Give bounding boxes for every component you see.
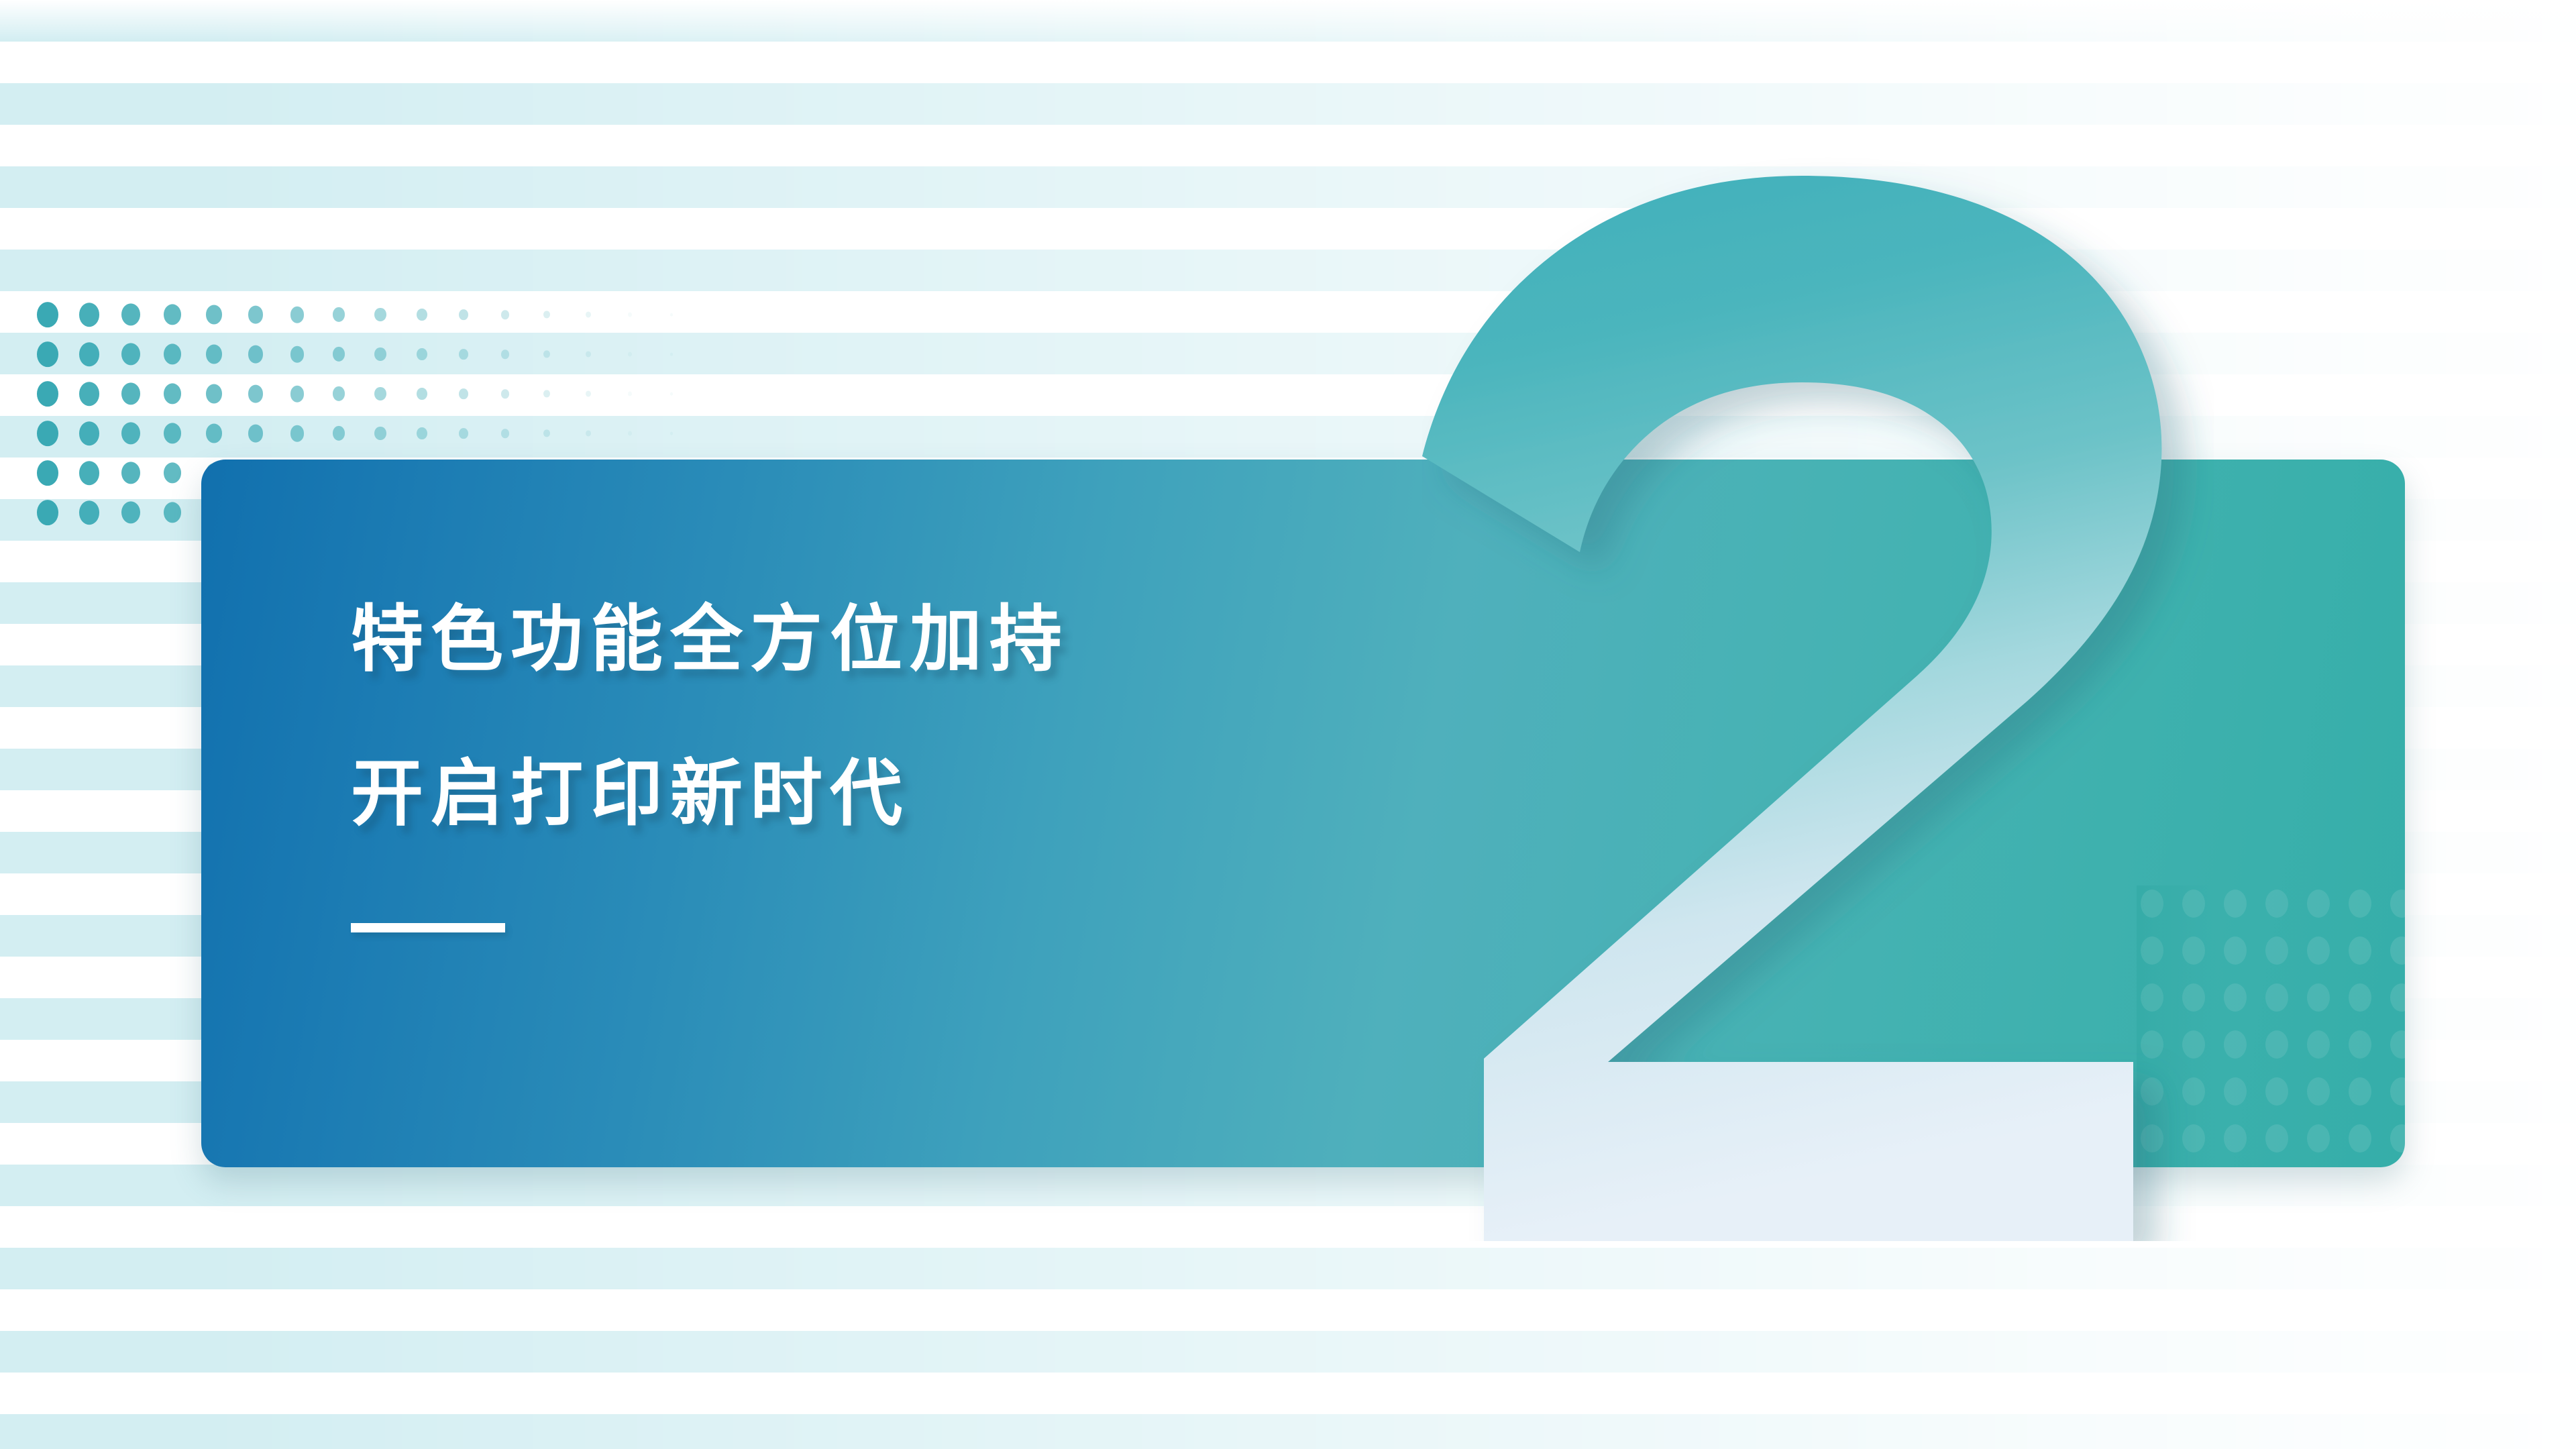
halftone-dot (543, 350, 550, 358)
card-halftone-dot (2265, 1077, 2288, 1106)
halftone-dot (79, 461, 99, 485)
halftone-dot (670, 432, 673, 435)
halftone-dot (121, 343, 140, 365)
halftone-dot (79, 303, 99, 327)
halftone-dot (79, 342, 99, 366)
halftone-dot (543, 390, 550, 397)
halftone-dot (586, 390, 591, 396)
card-halftone-dot (2182, 1030, 2205, 1059)
card-halftone-dot (2349, 1124, 2371, 1152)
halftone-dot (164, 462, 181, 483)
card-halftone-dot (2224, 890, 2247, 918)
halftone-dot (501, 310, 508, 319)
halftone-dot (164, 502, 181, 523)
halftone-dot (628, 431, 632, 436)
halftone-dot (333, 307, 345, 322)
halftone-dot (459, 309, 468, 320)
halftone-dot-row (37, 343, 714, 366)
card-halftone-dot (2182, 936, 2205, 965)
card-halftone-dot-grid (2137, 885, 2405, 1167)
halftone-dot (121, 422, 140, 444)
card-halftone-dot (2307, 1124, 2330, 1152)
title-line-1: 特色功能全方位加持 (351, 562, 1069, 716)
card-halftone-dot (2390, 890, 2405, 918)
halftone-dot (501, 429, 508, 438)
halftone-dot (79, 500, 99, 525)
halftone-dot (374, 347, 386, 361)
card-halftone-dot (2141, 1077, 2163, 1106)
halftone-dot (670, 313, 673, 317)
halftone-dot (670, 353, 673, 356)
card-halftone-dot (2390, 936, 2405, 965)
halftone-dot (164, 304, 181, 325)
halftone-dot (121, 462, 140, 484)
halftone-dot (37, 460, 58, 486)
halftone-dot (628, 352, 632, 357)
section-title-block: 特色功能全方位加持 开启打印新时代 (351, 562, 1069, 932)
halftone-dot (37, 421, 58, 446)
halftone-dot (206, 305, 223, 325)
halftone-dot (37, 341, 58, 367)
halftone-dot (290, 346, 305, 363)
halftone-dot (628, 392, 632, 396)
halftone-dot (501, 350, 508, 359)
card-halftone-dot (2307, 1030, 2330, 1059)
card-halftone-dot (2182, 1077, 2205, 1106)
halftone-dot (417, 427, 427, 439)
card-halftone-dot (2141, 1030, 2163, 1059)
halftone-dot (586, 311, 591, 317)
halftone-dot (164, 423, 181, 443)
halftone-dot (459, 428, 468, 439)
card-halftone-dot (2182, 983, 2205, 1012)
halftone-dot (121, 303, 140, 325)
halftone-dot (206, 384, 223, 404)
halftone-dot (543, 311, 550, 318)
halftone-dot (37, 500, 58, 525)
card-halftone-dot (2307, 983, 2330, 1012)
card-halftone-dot (2182, 1124, 2205, 1152)
halftone-dot (121, 501, 140, 523)
halftone-dot (37, 302, 58, 327)
halftone-dot (248, 345, 264, 364)
card-halftone-dot (2265, 936, 2288, 965)
halftone-dot (670, 392, 673, 396)
card-halftone-dot (2182, 890, 2205, 918)
card-halftone-dot (2390, 1030, 2405, 1059)
halftone-dot (333, 426, 345, 441)
halftone-dot (248, 425, 264, 443)
card-halftone-dot (2349, 890, 2371, 918)
halftone-dot (79, 382, 99, 406)
halftone-dot (628, 313, 632, 317)
card-halftone-dot (2141, 936, 2163, 965)
card-halftone-dot (2390, 1124, 2405, 1152)
halftone-dot (248, 306, 264, 324)
card-halftone-dot (2349, 936, 2371, 965)
halftone-dot (290, 307, 305, 323)
halftone-dot (459, 388, 468, 399)
card-halftone-dot (2307, 1077, 2330, 1106)
card-halftone-dot (2307, 936, 2330, 965)
card-halftone-dot (2224, 1077, 2247, 1106)
halftone-dot (459, 349, 468, 360)
card-halftone-dot (2141, 1124, 2163, 1152)
halftone-dot (290, 425, 305, 442)
card-halftone-dot (2265, 1124, 2288, 1152)
halftone-dot (586, 351, 591, 357)
card-halftone-dot (2265, 1030, 2288, 1059)
halftone-dot (374, 308, 386, 321)
card-halftone-dot (2224, 1124, 2247, 1152)
halftone-dot (333, 347, 345, 362)
halftone-dot (164, 383, 181, 404)
card-halftone-dot (2307, 890, 2330, 918)
halftone-dot-row (37, 422, 714, 445)
card-halftone-dot (2390, 983, 2405, 1012)
halftone-dot-row (37, 303, 714, 326)
halftone-dot (501, 389, 508, 398)
halftone-dot (206, 345, 223, 364)
halftone-dot (543, 429, 550, 437)
halftone-dot (164, 343, 181, 364)
card-halftone-dot (2224, 983, 2247, 1012)
stripes-top-fade (0, 0, 2576, 40)
halftone-dot (417, 309, 427, 321)
halftone-dot (586, 430, 591, 436)
halftone-dot (248, 385, 264, 403)
card-halftone-dot (2224, 936, 2247, 965)
halftone-dot (37, 381, 58, 407)
halftone-dot (374, 427, 386, 440)
card-halftone-dot (2265, 983, 2288, 1012)
card-halftone-dot (2349, 1077, 2371, 1106)
halftone-dot (79, 421, 99, 445)
halftone-dot (206, 424, 223, 443)
title-divider-bar (351, 923, 505, 932)
card-halftone-dot (2265, 890, 2288, 918)
halftone-dot (374, 387, 386, 400)
card-halftone-dot (2349, 1030, 2371, 1059)
halftone-dot (290, 386, 305, 402)
card-halftone-dot (2349, 983, 2371, 1012)
card-halftone-dot (2141, 890, 2163, 918)
halftone-dot (417, 388, 427, 400)
card-halftone-dot (2224, 1030, 2247, 1059)
halftone-dot (333, 386, 345, 401)
title-line-2: 开启打印新时代 (351, 716, 1069, 871)
halftone-dot (417, 348, 427, 360)
card-halftone-dot (2141, 983, 2163, 1012)
halftone-dot-row (37, 382, 714, 405)
halftone-dot (121, 382, 140, 405)
card-halftone-dot (2390, 1077, 2405, 1106)
